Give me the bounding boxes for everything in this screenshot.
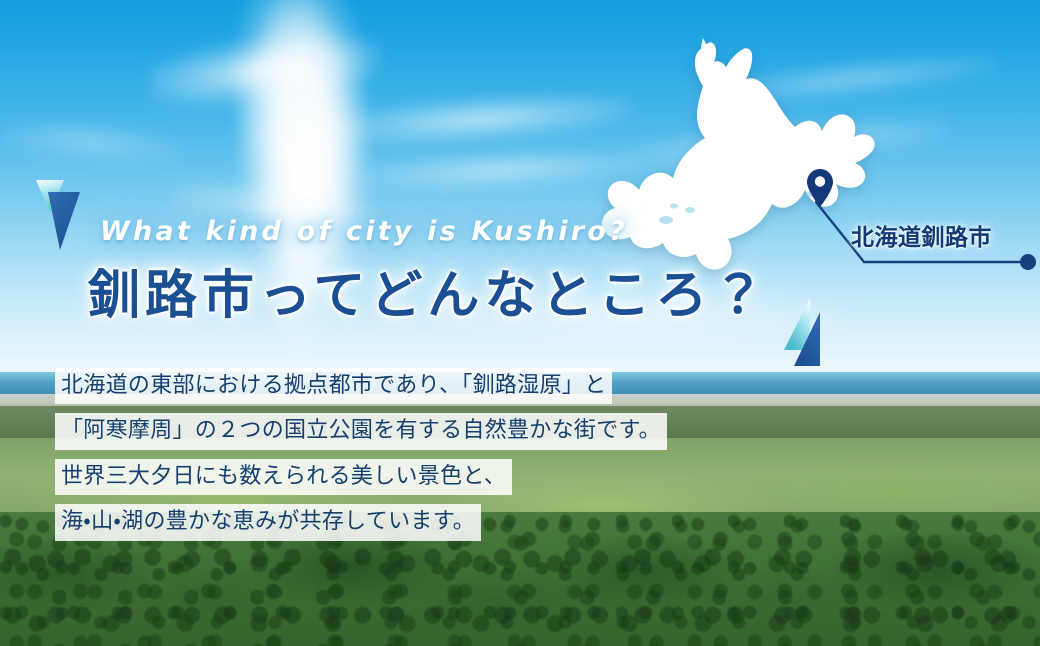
eyebrow-tagline: What kind of city is Kushiro?: [100, 216, 628, 247]
copy-line: 北海道の東部における拠点都市であり、「釧路湿原」と: [55, 368, 612, 404]
body-copy: 北海道の東部における拠点都市であり、「釧路湿原」と 「阿寒摩周」の２つの国立公園…: [55, 368, 667, 541]
copy-line: 世界三大夕日にも数えられる美しい景色と、: [55, 459, 512, 495]
copy-line: 「阿寒摩周」の２つの国立公園を有する自然豊かな街です。: [55, 413, 667, 449]
page-title: 釧路市ってどんなところ？: [88, 270, 769, 322]
copy-line: 海・山・湖の豊かな恵みが共存しています。: [55, 504, 481, 540]
map-label-kushiro: 北海道釧路市: [851, 218, 992, 252]
double-chevron-down-mirrored-icon: [780, 294, 832, 368]
double-chevron-down-icon: [34, 178, 82, 252]
map-pin-icon: [806, 168, 834, 208]
hero-banner: 北海道釧路市: [0, 0, 1040, 646]
